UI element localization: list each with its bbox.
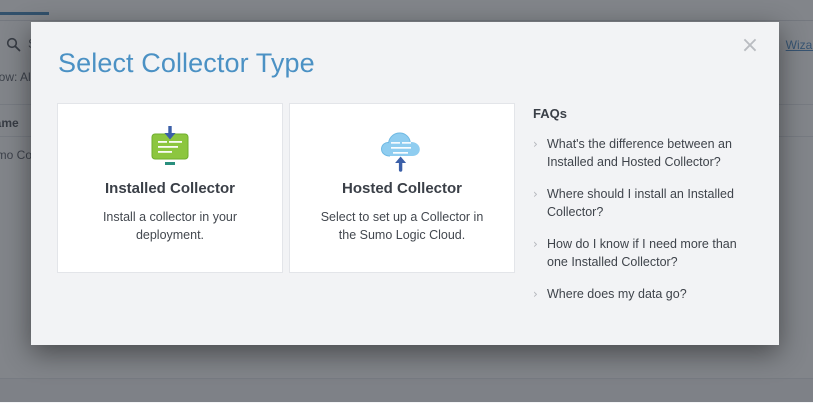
faq-item[interactable]: › How do I know if I need more than one … xyxy=(533,235,757,271)
tab-status[interactable]: Status xyxy=(72,0,112,12)
tab-status-label: Status xyxy=(72,0,112,2)
page-title: Select Collector Type xyxy=(58,48,315,79)
column-header-name: Name xyxy=(0,116,19,130)
installed-collector-description: Install a collector in your deployment. xyxy=(80,208,260,244)
show-filter[interactable]: Show: All xyxy=(0,70,33,84)
faq-item-label: Where does my data go? xyxy=(547,287,687,301)
faq-item-label: What's the difference between an Install… xyxy=(547,137,732,169)
tab-collection-label: Collection xyxy=(0,0,49,2)
cloud-upload-icon xyxy=(290,126,514,172)
close-icon[interactable]: × xyxy=(735,31,765,61)
tab-collection[interactable]: Collection xyxy=(0,0,49,15)
installed-collector-card[interactable]: Installed Collector Install a collector … xyxy=(57,103,283,273)
faq-heading: FAQs xyxy=(533,106,757,121)
faq-item-label: Where should I install an Installed Coll… xyxy=(547,187,734,219)
chevron-right-icon: › xyxy=(533,235,538,253)
hosted-collector-title: Hosted Collector xyxy=(290,180,514,197)
chevron-right-icon: › xyxy=(533,185,538,203)
search-icon[interactable] xyxy=(6,37,21,52)
wizard-link[interactable]: Wizard xyxy=(786,38,813,52)
background-tab-bar: Collection Status xyxy=(0,0,813,21)
faq-item-label: How do I know if I need more than one In… xyxy=(547,237,737,269)
chevron-right-icon: › xyxy=(533,135,538,153)
monitor-download-icon xyxy=(58,126,282,172)
background-footer xyxy=(0,378,813,403)
faq-panel: FAQs › What's the difference between an … xyxy=(533,106,757,317)
faq-item[interactable]: › Where should I install an Installed Co… xyxy=(533,185,757,221)
hosted-collector-description: Select to set up a Collector in the Sumo… xyxy=(312,208,492,244)
select-collector-type-dialog: Select Collector Type × Installed Collec… xyxy=(31,22,779,345)
faq-item[interactable]: › Where does my data go? xyxy=(533,285,757,303)
chevron-right-icon: › xyxy=(533,285,538,303)
installed-collector-title: Installed Collector xyxy=(58,180,282,197)
hosted-collector-card[interactable]: Hosted Collector Select to set up a Coll… xyxy=(289,103,515,273)
faq-item[interactable]: › What's the difference between an Insta… xyxy=(533,135,757,171)
